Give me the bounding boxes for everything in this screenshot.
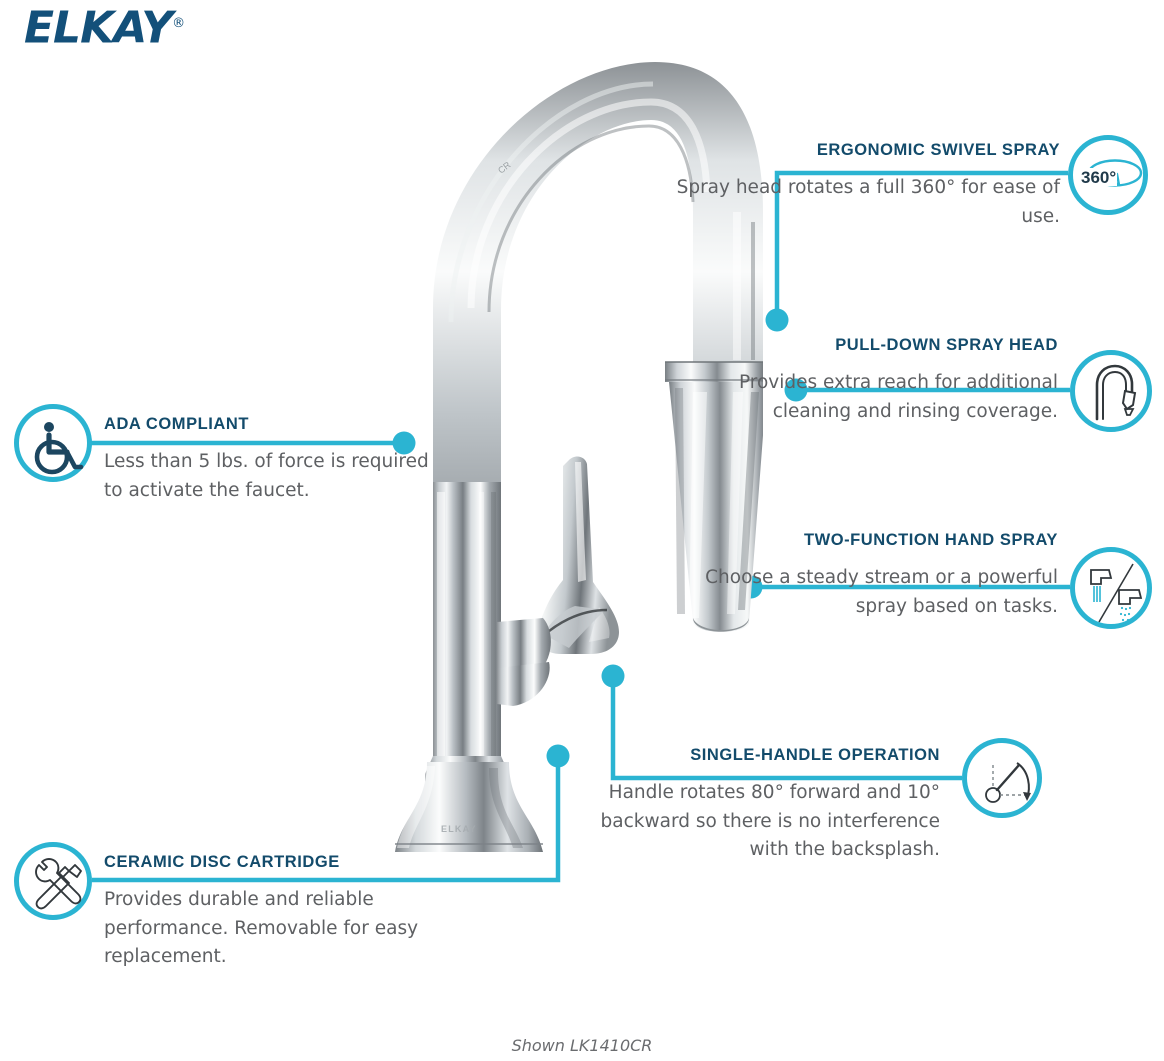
registered-trademark-symbol: ® [172,16,184,31]
handle-rotation-icon [962,738,1042,818]
callout-title-ceramic-disc-cartridge: CERAMIC DISC CARTRIDGE [104,852,444,873]
callout-body-pull-down-spray-head: Provides extra reach for additional clea… [700,369,1058,426]
callout-body-ergonomic-swivel-spray: Spray head rotates a full 360° for ease … [660,174,1060,231]
callout-title-ada-compliant: ADA COMPLIANT [104,414,434,435]
callout-ada-compliant: ADA COMPLIANT Less than 5 lbs. of force … [104,414,434,505]
wheelchair-accessibility-icon [14,404,92,482]
callout-ceramic-disc-cartridge: CERAMIC DISC CARTRIDGE Provides durable … [104,852,444,972]
svg-text:ELKAY: ELKAY [441,824,477,834]
brand-name: ELKAY [24,3,172,54]
callout-body-single-handle-operation: Handle rotates 80° forward and 10° backw… [560,779,940,865]
callout-title-pull-down-spray-head: PULL-DOWN SPRAY HEAD [700,333,1058,358]
product-feature-diagram: CR [0,0,1164,1061]
connector-dot-ergonomic-swivel-spray [766,309,789,332]
callout-two-function-hand-spray: TWO-FUNCTION HAND SPRAY Choose a steady … [700,528,1058,621]
elkay-logo-text: ELKAY® [24,0,304,53]
callout-title-single-handle-operation: SINGLE-HANDLE OPERATION [560,745,940,766]
two-function-spray-icon [1070,547,1152,629]
rotate-360-icon: 360° [1068,135,1148,215]
wrench-hammer-tools-icon [14,842,92,920]
callout-single-handle-operation: SINGLE-HANDLE OPERATION Handle rotates 8… [560,745,940,865]
callout-pull-down-spray-head: PULL-DOWN SPRAY HEAD Provides extra reac… [700,333,1058,426]
callout-title-two-function-hand-spray: TWO-FUNCTION HAND SPRAY [700,528,1058,553]
product-model-caption: Shown LK1410CR [0,1036,1164,1055]
elkay-logo: ELKAY® [24,0,304,48]
callout-body-ceramic-disc-cartridge: Provides durable and reliable performanc… [104,886,444,972]
callout-title-ergonomic-swivel-spray: ERGONOMIC SWIVEL SPRAY [660,140,1060,161]
pull-down-faucet-icon [1070,350,1152,432]
callout-body-two-function-hand-spray: Choose a steady stream or a powerful spr… [700,564,1058,621]
callout-ergonomic-swivel-spray: ERGONOMIC SWIVEL SPRAY Spray head rotate… [660,140,1060,231]
svg-text:360°: 360° [1081,168,1116,187]
callout-body-ada-compliant: Less than 5 lbs. of force is required to… [104,448,434,505]
